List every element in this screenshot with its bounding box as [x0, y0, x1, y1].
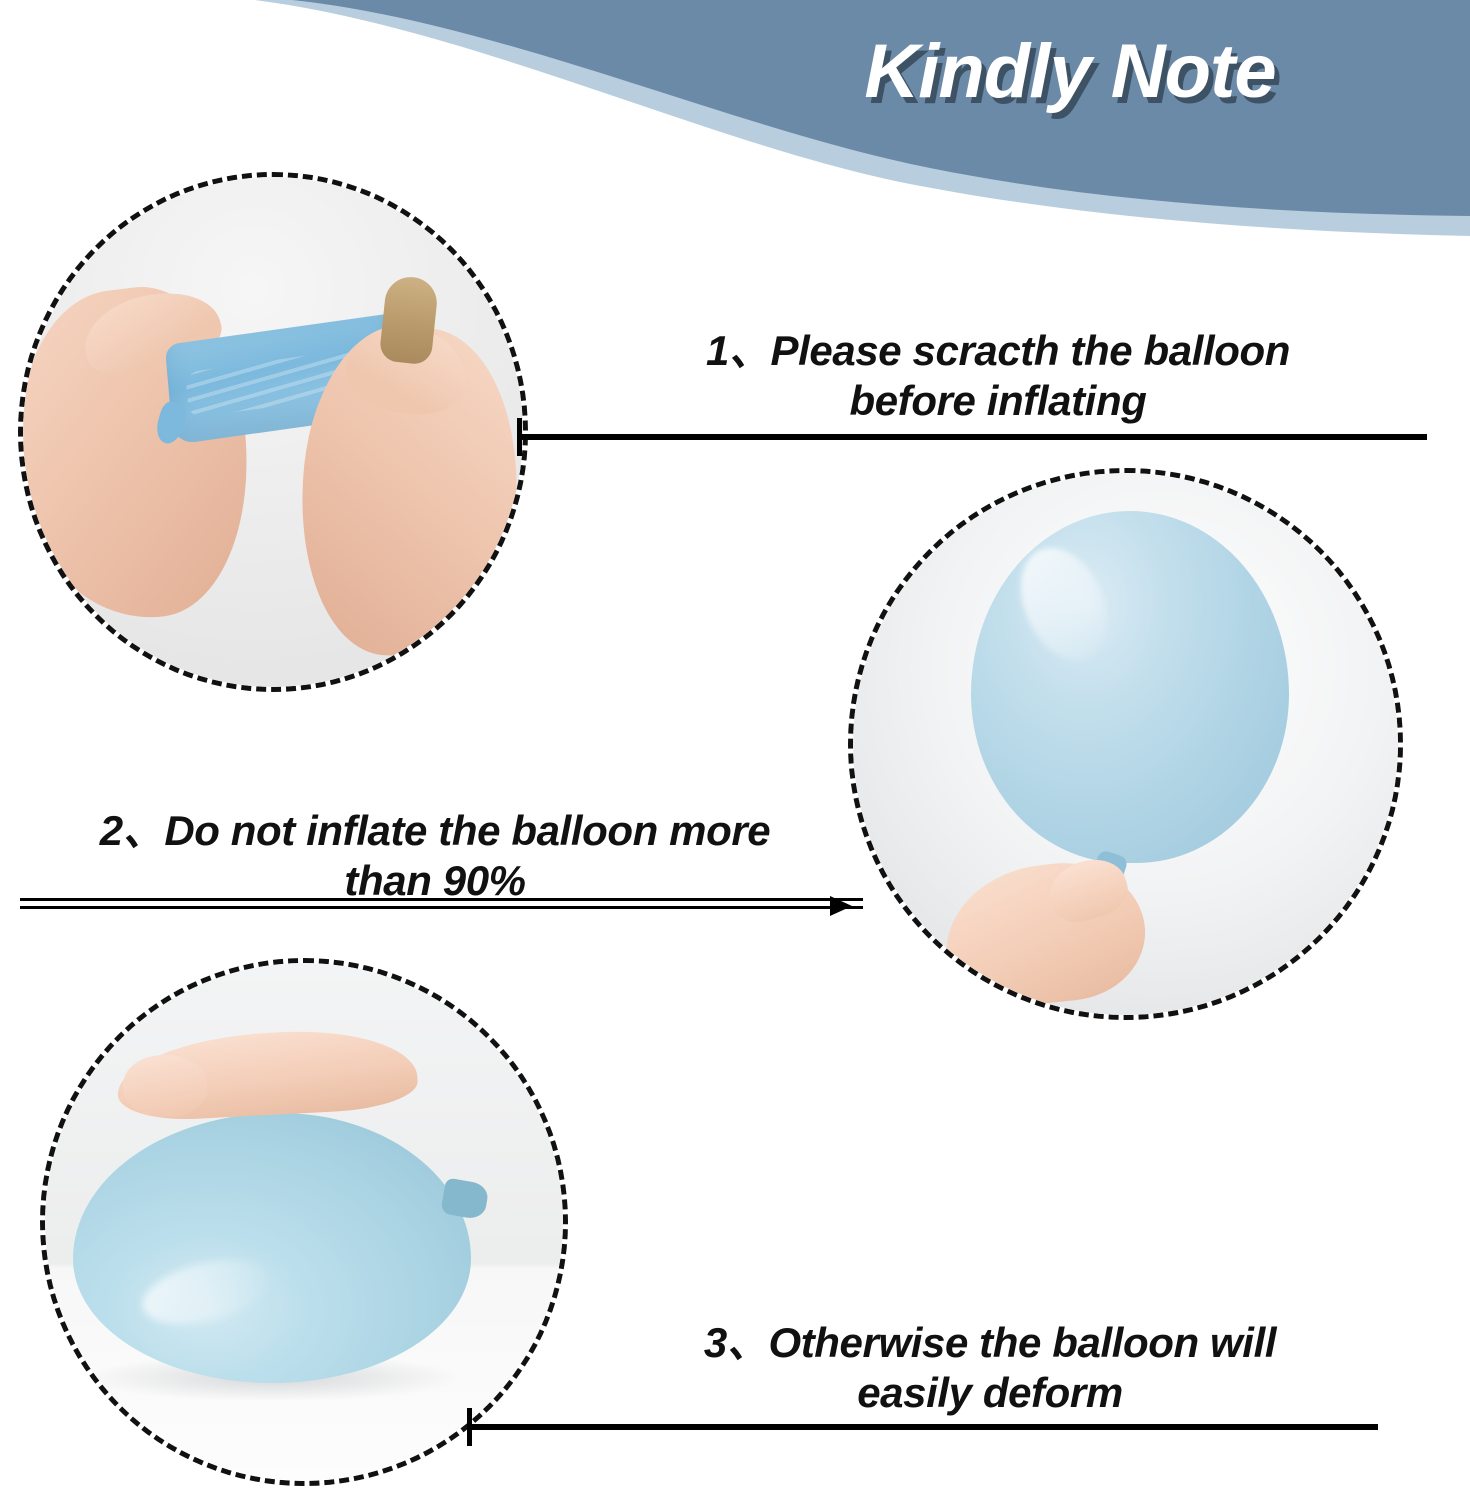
kindly-note-infographic: Kindly Note [0, 0, 1470, 1500]
photo-1-content [23, 177, 523, 687]
step-2-rule-arrow-icon [830, 896, 852, 916]
step-2-rule-line-bottom [20, 906, 863, 909]
step-2-number: 2、 [100, 807, 165, 854]
photo-hand-pressing-deformed-balloon [40, 958, 568, 1486]
photo-2-content [853, 473, 1398, 1015]
photo-3-content [45, 963, 563, 1481]
step-3-line-1: Otherwise the balloon will [768, 1319, 1276, 1366]
step-2-line-2: than 90% [344, 857, 525, 904]
step-3-rule [467, 1424, 1378, 1430]
step-1-number: 1、 [706, 327, 771, 374]
step-1-line-1: Please scracth the balloon [771, 327, 1290, 374]
step-3-number: 3、 [704, 1319, 769, 1366]
step-1-line-2: before inflating [850, 377, 1147, 424]
photo-hand-holding-inflated-balloon [848, 468, 1403, 1020]
step-2-text: 2、Do not inflate the balloon more than 9… [40, 806, 830, 905]
inflated-balloon-shape [971, 511, 1289, 863]
pressing-hand-knuckle-shape [123, 1055, 207, 1117]
step-3-line-2: easily deform [857, 1369, 1123, 1416]
step-3-text: 3、Otherwise the balloon will easily defo… [600, 1318, 1380, 1417]
step-1-rule [517, 434, 1427, 440]
step-1-text: 1、Please scracth the balloon before infl… [648, 326, 1348, 425]
page-title: Kindly Note [770, 28, 1370, 115]
step-2-line-1: Do not inflate the balloon more [164, 807, 770, 854]
photo-hands-stretching-balloon [18, 172, 528, 692]
